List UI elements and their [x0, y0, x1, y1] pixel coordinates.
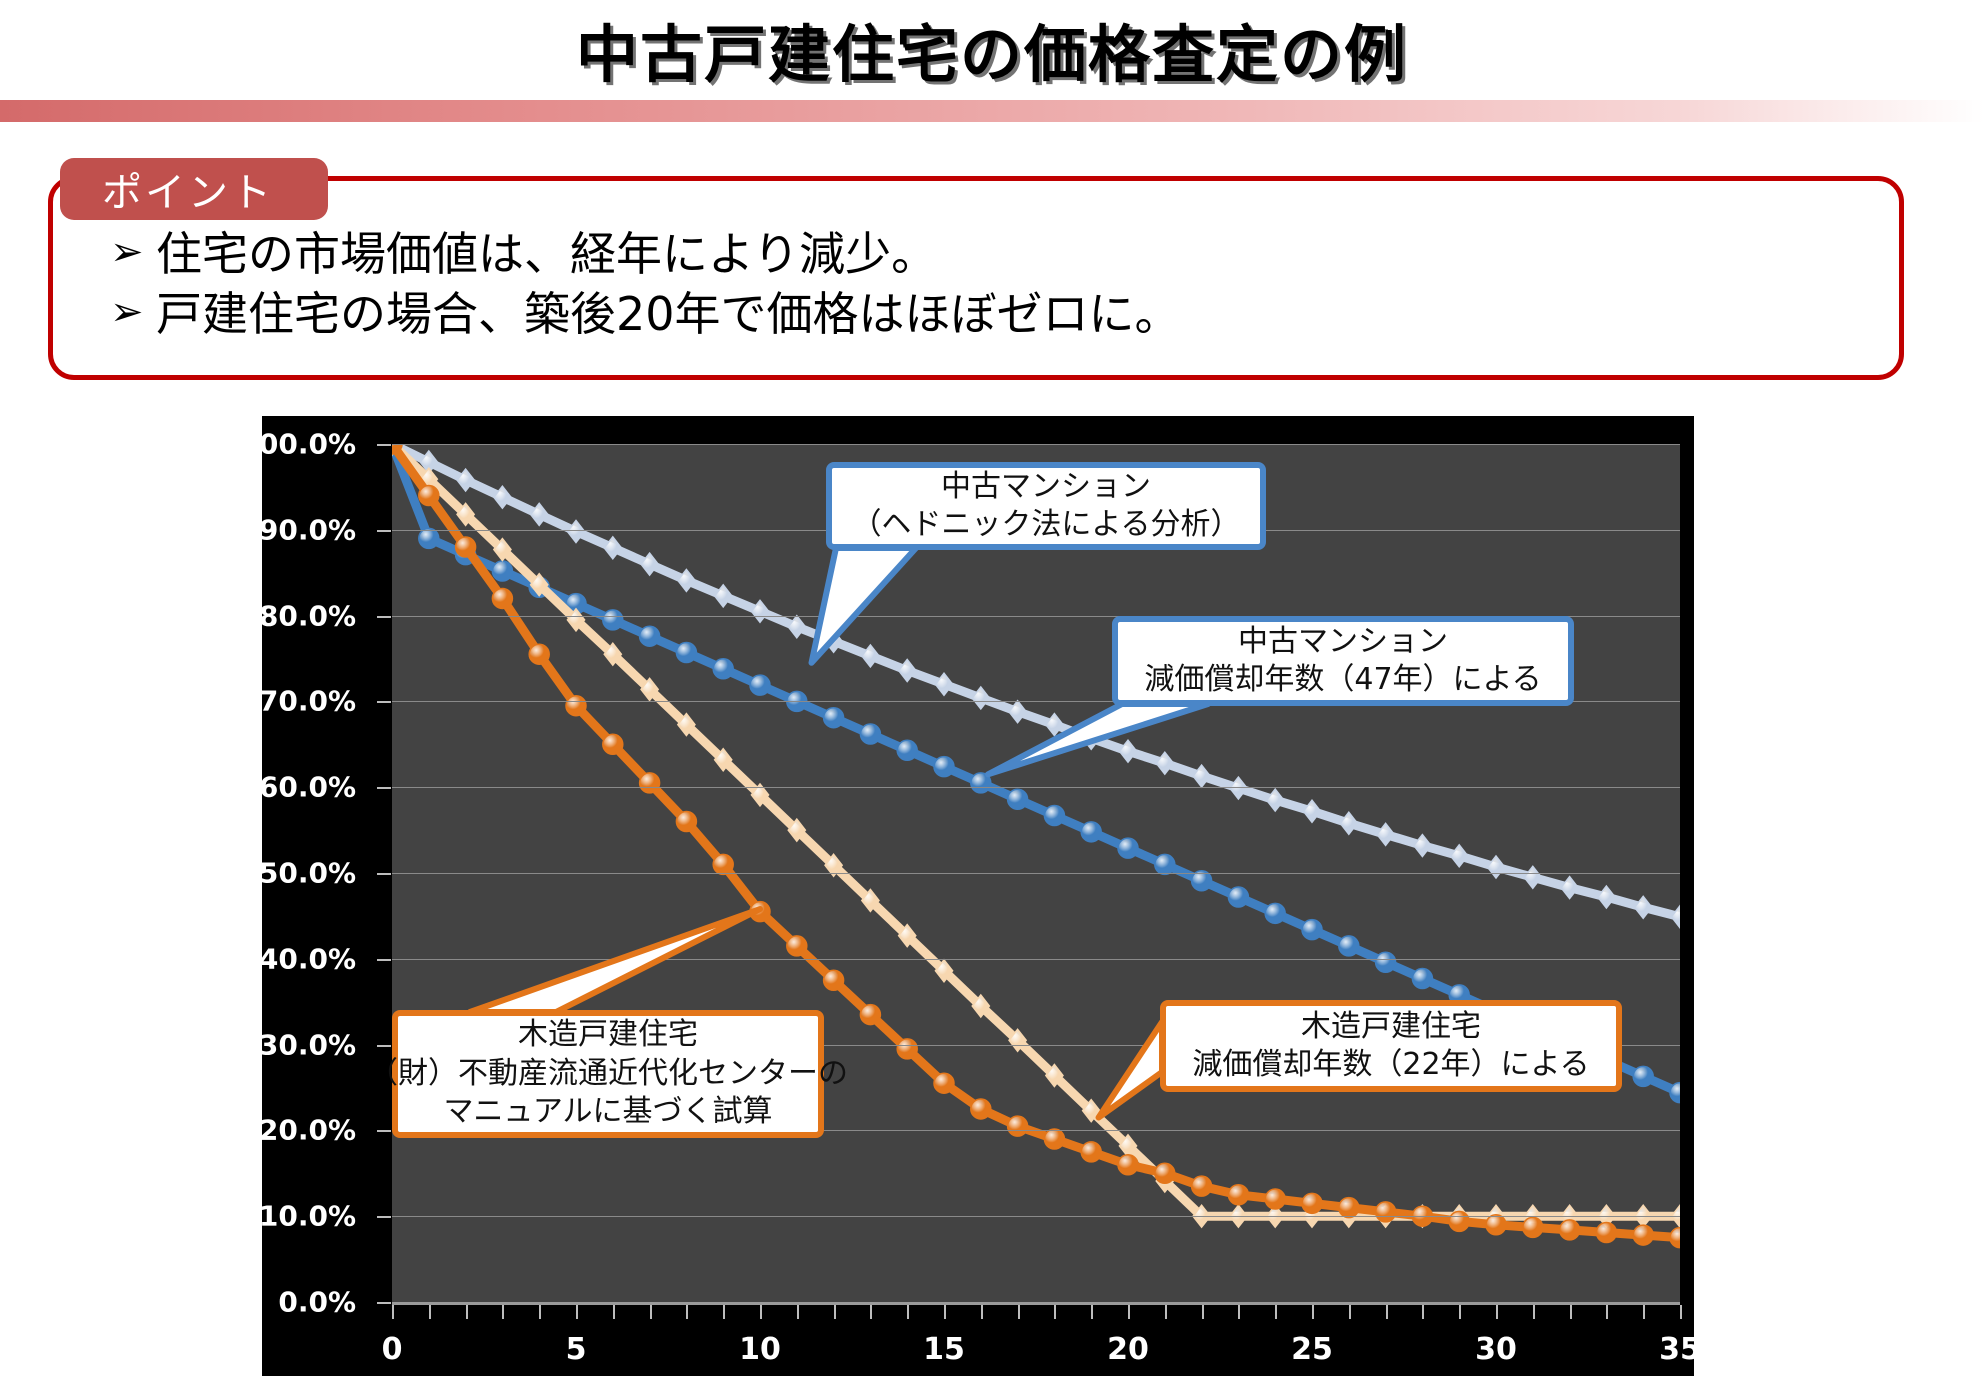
point-tag: ポイント: [60, 158, 328, 220]
callout-mansion-47: 中古マンション 減価償却年数（47年）による: [1112, 616, 1574, 706]
callout-line: 中古マンション: [1238, 623, 1448, 661]
callout-leader: [1099, 1022, 1162, 1118]
callout-line: 木造戸建住宅: [1301, 1008, 1481, 1046]
callout-line: マニュアルに基づく試算: [443, 1093, 772, 1131]
bullet-arrow-icon: ➢: [110, 286, 156, 338]
page-title: 中古戸建住宅の価格査定の例: [576, 4, 1408, 94]
point-tag-label: ポイント: [102, 160, 274, 218]
bullet-text: 戸建住宅の場合、築後20年で価格はほぼゼロに。: [156, 286, 1181, 342]
callout-line: 中古マンション: [941, 468, 1151, 506]
list-item: ➢ 戸建住宅の場合、築後20年で価格はほぼゼロに。: [110, 286, 1810, 342]
list-item: ➢ 住宅の市場価値は、経年により減少。: [110, 226, 1810, 282]
callout-line: （ヘドニック法による分析）: [851, 506, 1240, 544]
callout-leader: [470, 909, 760, 1012]
title-divider-rule: [0, 100, 1984, 122]
callout-wood-22: 木造戸建住宅 減価償却年数（22年）による: [1160, 1000, 1622, 1092]
bullet-text: 住宅の市場価値は、経年により減少。: [156, 226, 937, 282]
callout-leader: [988, 704, 1208, 774]
callout-wood-manual: 木造戸建住宅 （財）不動産流通近代化センターの マニュアルに基づく試算: [392, 1010, 824, 1138]
callout-line: （財）不動産流通近代化センターの: [368, 1055, 848, 1093]
callout-line: 減価償却年数（47年）による: [1144, 661, 1541, 699]
bullet-arrow-icon: ➢: [110, 226, 156, 278]
callout-leader: [812, 548, 916, 663]
point-bullet-list: ➢ 住宅の市場価値は、経年により減少。 ➢ 戸建住宅の場合、築後20年で価格はほ…: [110, 226, 1810, 346]
callout-line: 減価償却年数（22年）による: [1192, 1046, 1589, 1084]
callout-mansion-hedonic: 中古マンション （ヘドニック法による分析）: [826, 462, 1266, 550]
callout-line: 木造戸建住宅: [518, 1016, 698, 1054]
title-bar: 中古戸建住宅の価格査定の例: [0, 0, 1984, 98]
callout-leader-lines: [262, 416, 1694, 1376]
